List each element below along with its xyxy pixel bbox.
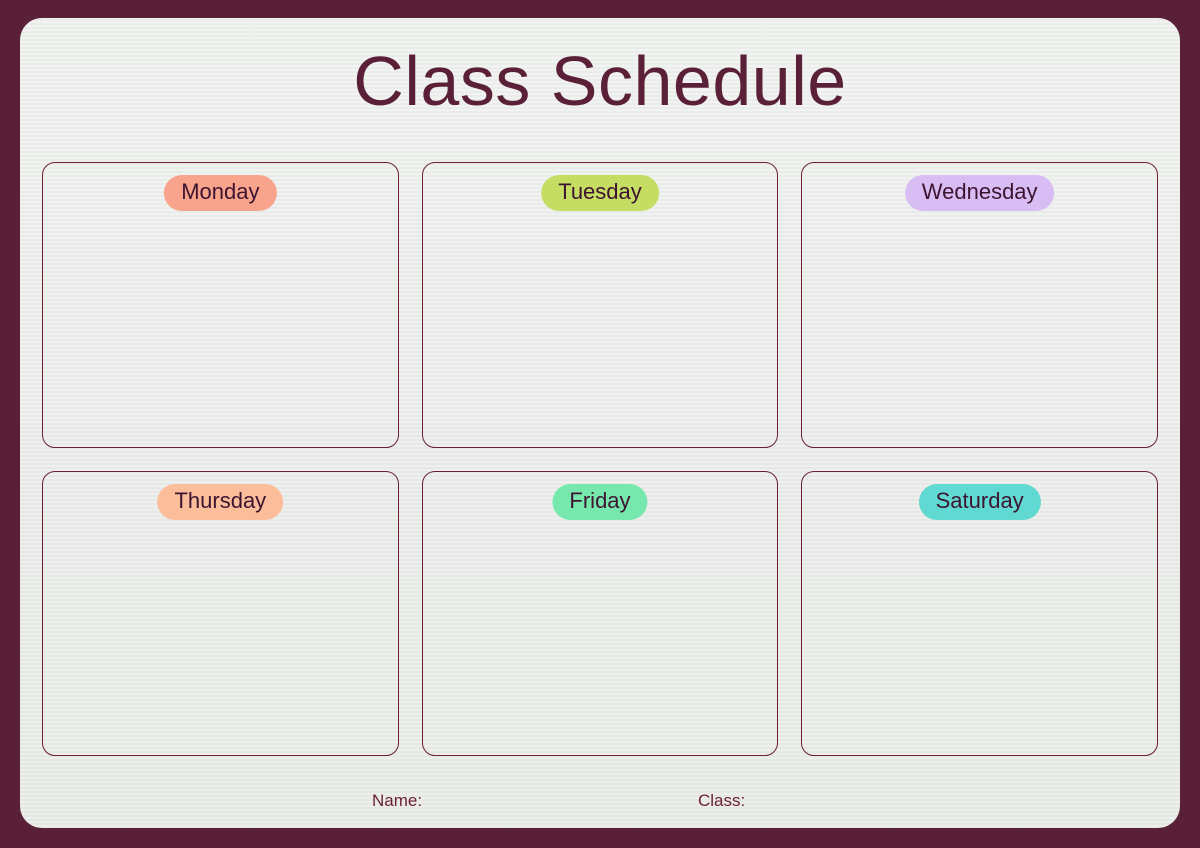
class-field-label: Class: — [698, 790, 745, 812]
paper-panel: Class Schedule Monday Tuesday Wednesday … — [20, 18, 1180, 828]
poster-frame: Class Schedule Monday Tuesday Wednesday … — [0, 0, 1200, 848]
day-label-friday: Friday — [552, 484, 647, 520]
name-field-label: Name: — [372, 790, 422, 812]
day-label-thursday: Thursday — [157, 484, 283, 520]
day-card-tuesday[interactable]: Tuesday — [422, 162, 779, 448]
day-label-wednesday: Wednesday — [905, 175, 1055, 211]
day-card-thursday[interactable]: Thursday — [42, 471, 399, 757]
day-card-wednesday[interactable]: Wednesday — [801, 162, 1158, 448]
day-card-saturday[interactable]: Saturday — [801, 471, 1158, 757]
footer-fields: Name: Class: — [42, 780, 1158, 828]
day-label-tuesday: Tuesday — [541, 175, 659, 211]
day-label-saturday: Saturday — [919, 484, 1041, 520]
day-label-monday: Monday — [164, 175, 276, 211]
day-grid: Monday Tuesday Wednesday Thursday Friday… — [42, 162, 1158, 756]
day-card-monday[interactable]: Monday — [42, 162, 399, 448]
page-title: Class Schedule — [20, 40, 1180, 122]
day-card-friday[interactable]: Friday — [422, 471, 779, 757]
